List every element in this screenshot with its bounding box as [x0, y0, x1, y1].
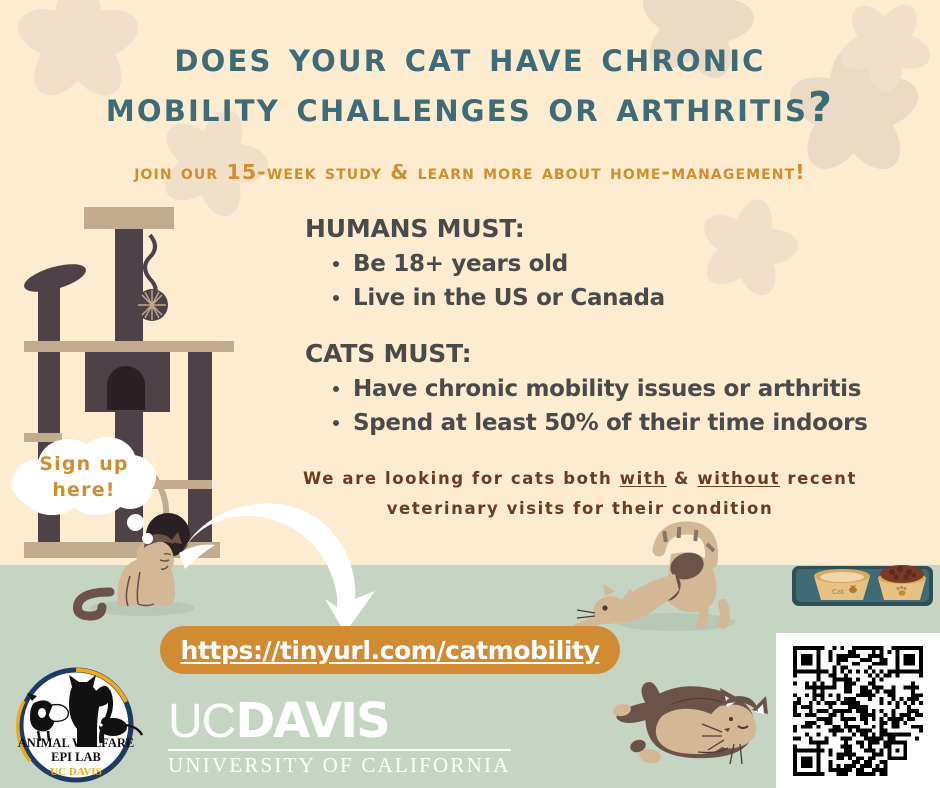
headline-line-2: mobility challenges or arthritis? — [0, 82, 940, 132]
requirement-list: Have chronic mobility issues or arthriti… — [331, 372, 885, 440]
requirement-group-cats: CATS MUST: Have chronic mobility issues … — [305, 339, 885, 440]
requirement-heading: CATS MUST: — [305, 339, 885, 368]
signup-thought-bubble: Sign up here! — [8, 437, 160, 517]
note-text-a: We are looking for cats both — [303, 469, 620, 488]
bubble-line-2: here! — [52, 477, 115, 503]
lab-line-3: UC DAVIS — [50, 766, 101, 778]
uc-prefix: UC — [168, 695, 235, 748]
qr-code-icon[interactable] — [793, 646, 923, 776]
bubble-line-1: Sign up — [39, 451, 128, 477]
list-item: Have chronic mobility issues or arthriti… — [331, 372, 885, 406]
bubble-trail-dot-large — [127, 514, 144, 531]
poster-headline: Does your cat have chronic mobility chal… — [0, 32, 940, 132]
bubble-text: Sign up here! — [8, 437, 160, 517]
lab-line-1: ANIMAL WELFARE — [18, 736, 135, 750]
requirement-group-humans: HUMANS MUST: Be 18+ years old Live in th… — [305, 214, 885, 315]
note-text-b: & — [667, 469, 698, 488]
bubble-trail-dot-small — [142, 533, 153, 544]
note-underline-with: with — [620, 469, 667, 488]
animal-welfare-epi-lab-logo: ANIMAL WELFARE EPI LAB UC DAVIS — [8, 665, 148, 785]
curved-arrow-icon — [175, 495, 395, 645]
headline-line-1: Does your cat have chronic — [0, 32, 940, 82]
lying-cat-illustration — [602, 660, 777, 780]
list-item: Be 18+ years old — [331, 247, 885, 281]
list-item: Live in the US or Canada — [331, 281, 885, 315]
mouse-icon — [99, 717, 142, 736]
cat-bowls-illustration: Cat — [790, 552, 935, 612]
list-item: Spend at least 50% of their time indoors — [331, 406, 885, 440]
uc-davis-subtitle: UNIVERSITY OF CALIFORNIA — [168, 753, 511, 778]
note-text-c: recent — [780, 469, 857, 488]
note-underline-without: without — [697, 469, 780, 488]
poster-subheadline: Join our 15-week study & learn more abou… — [0, 160, 940, 184]
uc-davis-title: UCDAVIS — [168, 697, 511, 746]
signup-url-text[interactable]: https://tinyurl.com/catmobility — [180, 636, 599, 665]
qr-code-container[interactable] — [776, 633, 940, 788]
requirements-section: HUMANS MUST: Be 18+ years old Live in th… — [305, 214, 885, 440]
poster-canvas: Does your cat have chronic mobility chal… — [0, 0, 940, 788]
requirement-list: Be 18+ years old Live in the US or Canad… — [331, 247, 885, 315]
signup-url-button[interactable]: https://tinyurl.com/catmobility — [160, 626, 620, 674]
lab-line-2: EPI LAB — [51, 750, 101, 764]
uc-bold: DAVIS — [235, 693, 388, 749]
bowl-label: Cat — [832, 588, 844, 596]
requirement-heading: HUMANS MUST: — [305, 214, 885, 243]
uc-davis-wordmark: UCDAVIS UNIVERSITY OF CALIFORNIA — [168, 697, 511, 778]
section-spacer — [305, 315, 885, 339]
note-line-1: We are looking for cats both with & with… — [250, 464, 910, 494]
wordmark-rule — [168, 749, 511, 751]
stretching-cat-illustration — [575, 518, 775, 633]
